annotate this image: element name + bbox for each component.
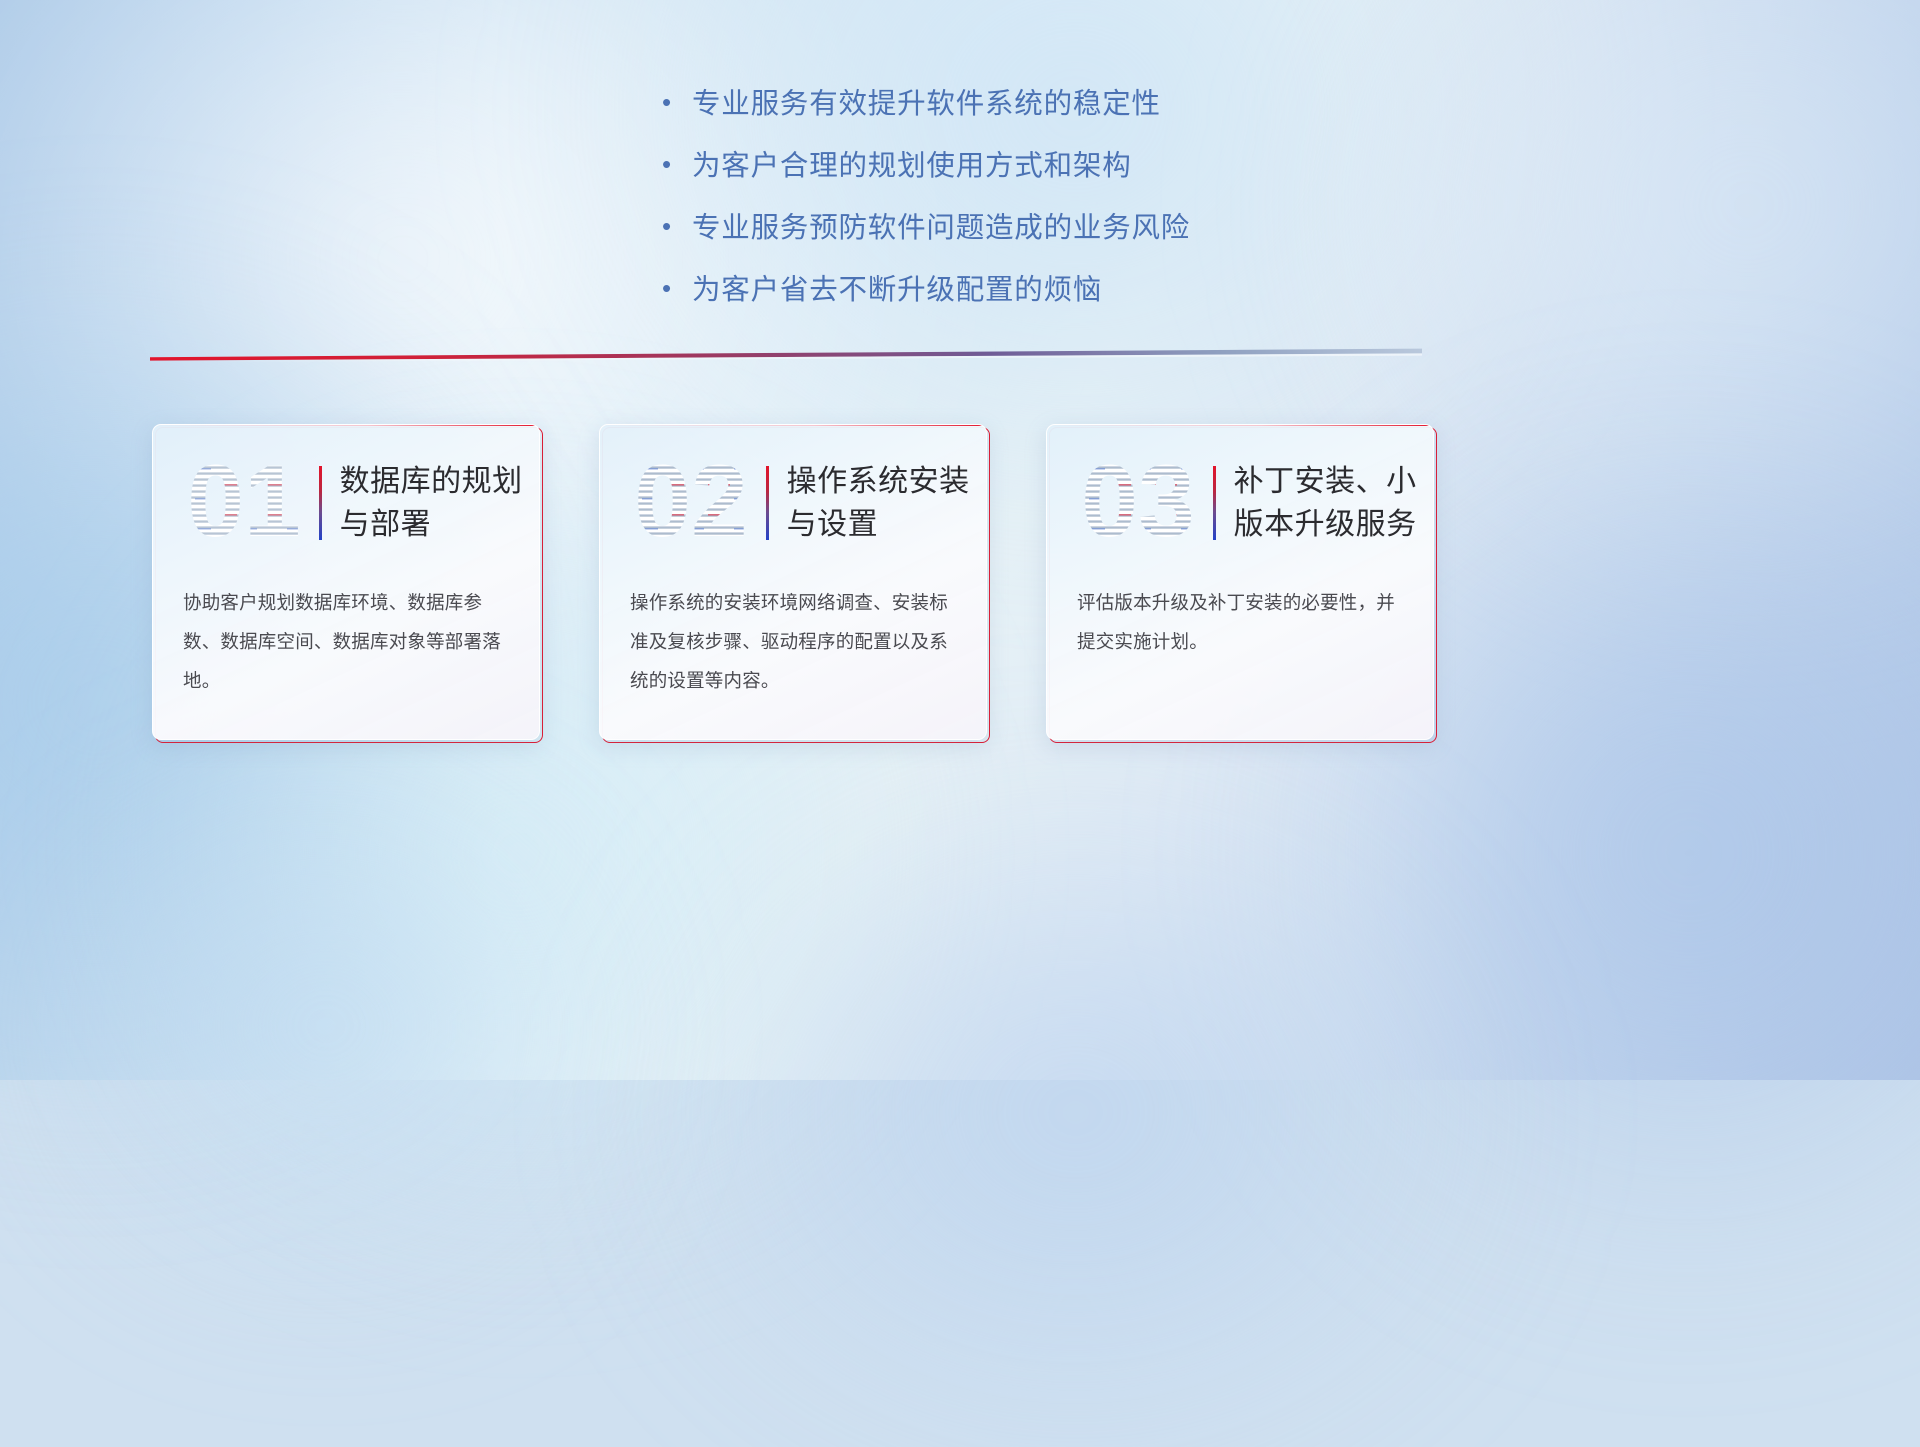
bullet-dot-icon: • [662, 275, 692, 301]
card-accent-bar [319, 466, 322, 540]
card-face: 03 补丁安装、小 版本升级服务 评估版本升级及补丁安装的必要性，并提交实施计划… [1046, 424, 1434, 740]
list-item: • 为客户省去不断升级配置的烦恼 [610, 264, 1310, 316]
list-item: • 为客户合理的规划使用方式和架构 [610, 140, 1310, 192]
list-item: • 专业服务有效提升软件系统的稳定性 [610, 78, 1310, 130]
card-accent-bar [766, 466, 769, 540]
card-body-text: 协助客户规划数据库环境、数据库参数、数据库空间、数据库对象等部署落地。 [183, 583, 513, 700]
card-top-accent [153, 424, 540, 426]
card-03[interactable]: 03 补丁安装、小 版本升级服务 评估版本升级及补丁安装的必要性，并提交实施计划… [1046, 424, 1434, 740]
bullet-text: 专业服务预防软件问题造成的业务风险 [692, 202, 1190, 254]
card-body-text: 评估版本升级及补丁安装的必要性，并提交实施计划。 [1077, 583, 1407, 661]
card-title: 操作系统安装 与设置 [787, 460, 970, 546]
card-02[interactable]: 02 操作系统安装 与设置 操作系统的安装环境网络调查、安装标准及复核步骤、驱动… [599, 424, 987, 740]
card-number-watermark: 01 [169, 448, 319, 558]
list-item: • 专业服务预防软件问题造成的业务风险 [610, 202, 1310, 254]
card-header: 02 操作系统安装 与设置 [600, 443, 986, 563]
card-header: 03 补丁安装、小 版本升级服务 [1047, 443, 1433, 563]
card-header: 01 数据库的规划 与部署 [153, 443, 539, 563]
card-accent-bar [1213, 466, 1216, 540]
card-face: 02 操作系统安装 与设置 操作系统的安装环境网络调查、安装标准及复核步骤、驱动… [599, 424, 987, 740]
card-top-accent [1047, 424, 1434, 426]
card-number-watermark: 02 [616, 448, 766, 558]
bullet-text: 为客户省去不断升级配置的烦恼 [692, 264, 1102, 316]
card-face: 01 数据库的规划 与部署 协助客户规划数据库环境 [152, 424, 540, 740]
card-body-text: 操作系统的安装环境网络调查、安装标准及复核步骤、驱动程序的配置以及系统的设置等内… [630, 583, 960, 700]
bullet-text: 专业服务有效提升软件系统的稳定性 [692, 78, 1161, 130]
card-row: 01 数据库的规划 与部署 协助客户规划数据库环境 [0, 424, 1920, 754]
card-top-accent [600, 424, 987, 426]
card-number-watermark: 03 [1063, 448, 1213, 558]
card-01[interactable]: 01 数据库的规划 与部署 协助客户规划数据库环境 [152, 424, 540, 740]
bullet-text: 为客户合理的规划使用方式和架构 [692, 140, 1132, 192]
card-title: 数据库的规划 与部署 [340, 460, 523, 546]
card-title: 补丁安装、小 版本升级服务 [1234, 460, 1417, 546]
bullet-dot-icon: • [662, 151, 692, 177]
bullet-dot-icon: • [662, 213, 692, 239]
section-divider [150, 348, 1422, 364]
bullet-dot-icon: • [662, 89, 692, 115]
bullet-list: • 专业服务有效提升软件系统的稳定性 • 为客户合理的规划使用方式和架构 • 专… [0, 78, 1920, 326]
